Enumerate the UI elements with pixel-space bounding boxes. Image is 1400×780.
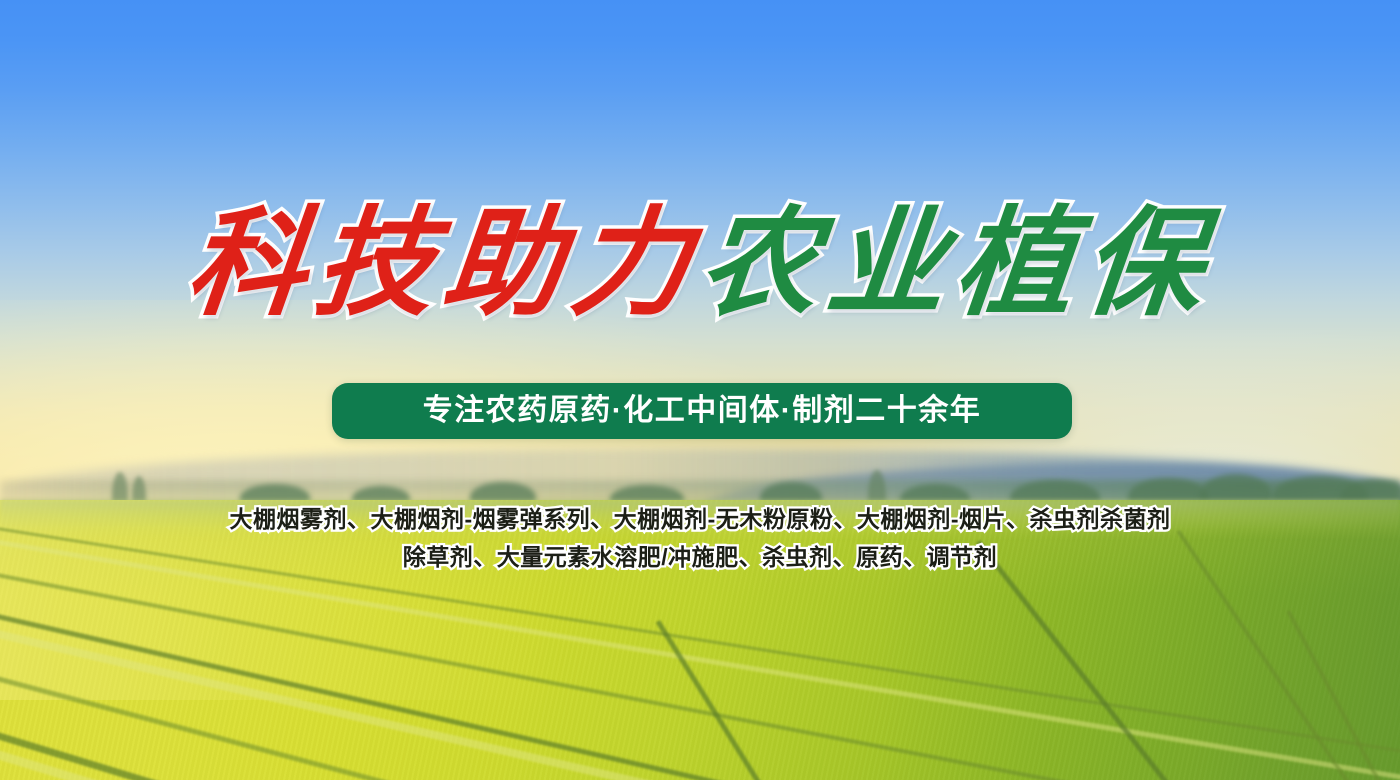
tagline-text: 专注农药原药·化工中间体·制剂二十余年 (423, 396, 981, 426)
product-line: 大棚烟雾剂、大棚烟剂-烟雾弹系列、大棚烟剂-无木粉原粉、大棚烟剂-烟片、杀虫剂杀… (0, 500, 1400, 538)
product-line: 除草剂、大量元素水溶肥/冲施肥、杀虫剂、原药、调节剂 (0, 538, 1400, 576)
headline: 科技助力农业植保 (0, 206, 1400, 324)
headline-segment-green: 农业植保 (694, 206, 1218, 324)
headline-segment-red: 科技助力 (182, 206, 706, 324)
tagline-pill: 专注农药原药·化工中间体·制剂二十余年 (332, 383, 1072, 439)
product-list: 大棚烟雾剂、大棚烟剂-烟雾弹系列、大棚烟剂-无木粉原粉、大棚烟剂-烟片、杀虫剂杀… (0, 500, 1400, 576)
promo-banner: 科技助力农业植保 专注农药原药·化工中间体·制剂二十余年 大棚烟雾剂、大棚烟剂-… (0, 0, 1400, 780)
